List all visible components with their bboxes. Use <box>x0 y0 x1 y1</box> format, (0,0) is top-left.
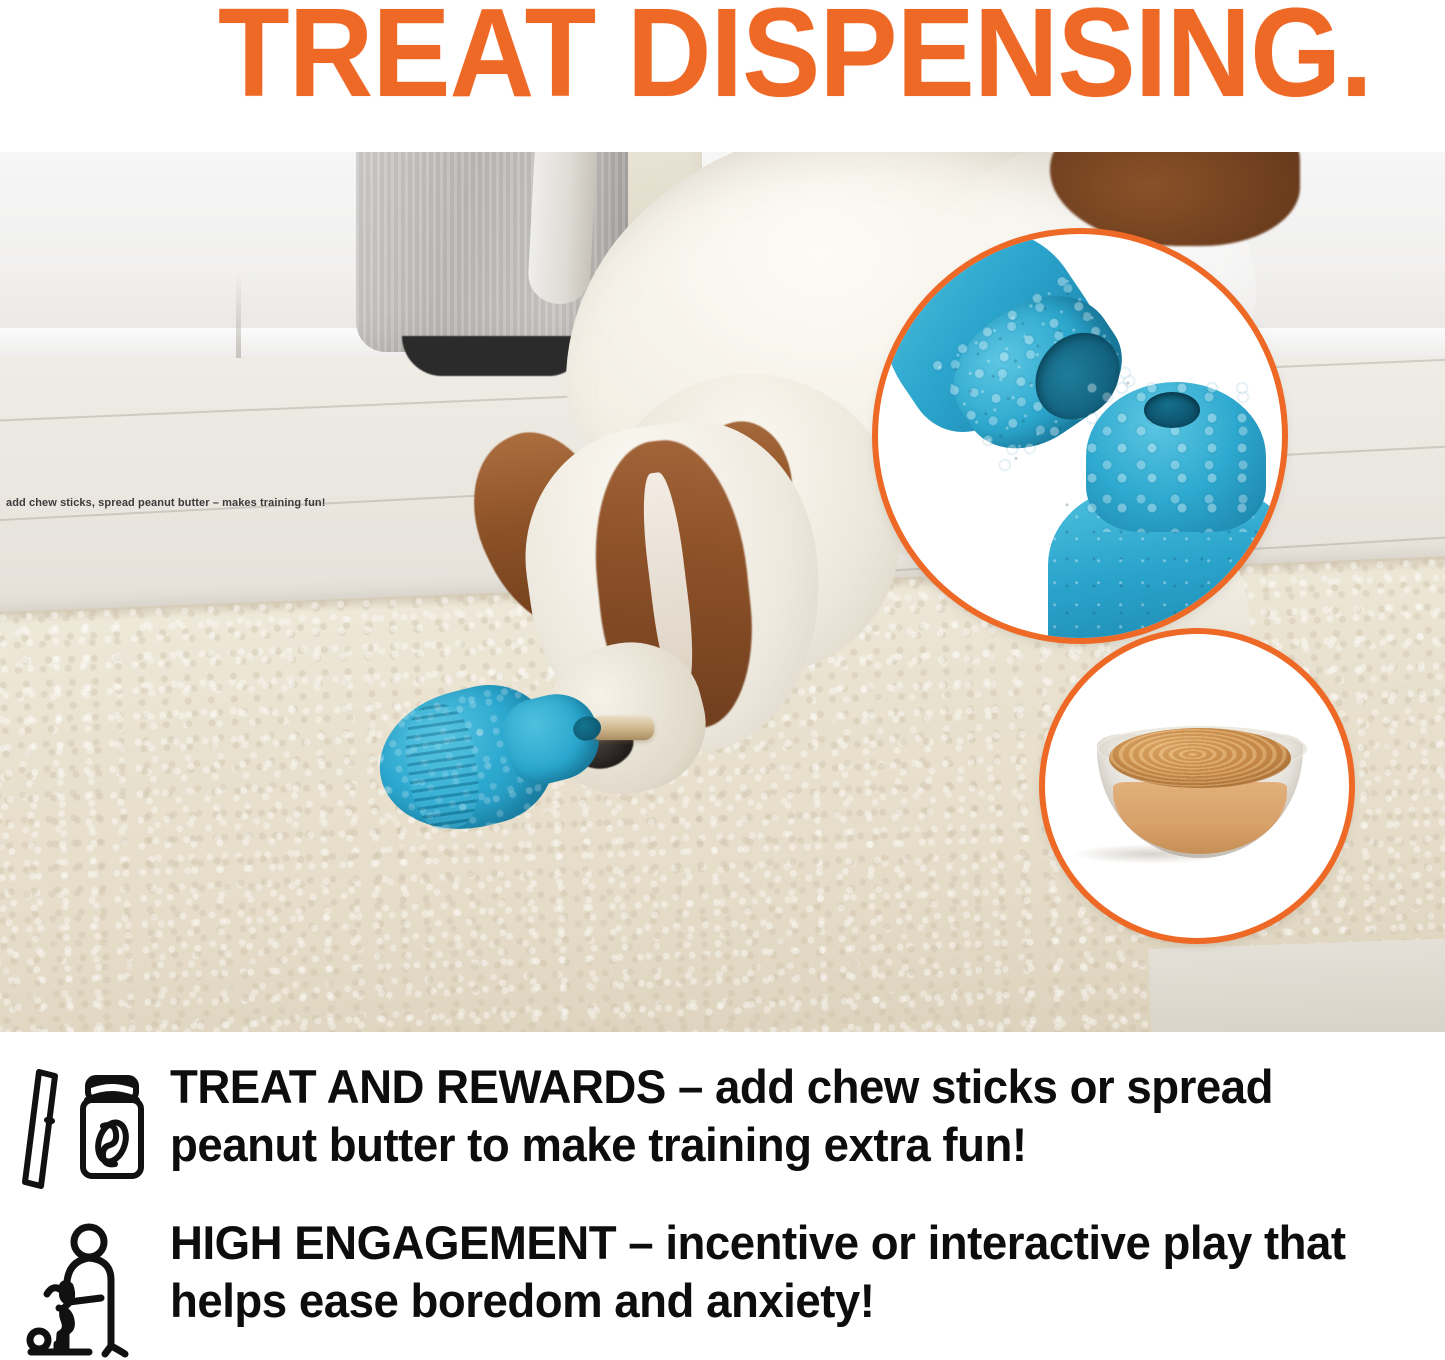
feature-lead: HIGH ENGAGEMENT <box>170 1216 616 1269</box>
peanut-butter-bowl <box>1097 708 1303 860</box>
person-with-dog-icon <box>0 1214 170 1360</box>
wall-seam <box>236 272 241 372</box>
chew-stick-and-peanut-butter-jar-icon <box>0 1058 170 1196</box>
feature-list: TREAT AND REWARDS – add chew sticks or s… <box>0 1032 1445 1354</box>
toy-treat-hole <box>1144 392 1200 428</box>
hero-photo: add chew sticks, spread peanut butter – … <box>0 152 1445 1032</box>
peanut-butter-swirl <box>1109 728 1291 788</box>
inset-product-closeup <box>878 234 1282 638</box>
photo-caption: add chew sticks, spread peanut butter – … <box>6 497 325 509</box>
inset-peanut-butter <box>1045 634 1349 938</box>
feature-lead: TREAT AND REWARDS <box>170 1060 666 1113</box>
headline-band: TREAT DISPENSING. <box>0 0 1445 152</box>
toy-closeup-lower <box>1066 382 1282 632</box>
page-title: TREAT DISPENSING. <box>218 0 1372 112</box>
peanut-butter-surface <box>1109 728 1291 788</box>
peanut-butter-in-bowl <box>1113 782 1287 854</box>
floor-beyond-rug <box>1148 935 1445 1032</box>
feature-text: TREAT AND REWARDS – add chew sticks or s… <box>170 1058 1407 1174</box>
feature-row: HIGH ENGAGEMENT – incentive or interacti… <box>0 1214 1445 1360</box>
feature-text: HIGH ENGAGEMENT – incentive or interacti… <box>170 1214 1407 1330</box>
feature-row: TREAT AND REWARDS – add chew sticks or s… <box>0 1058 1445 1196</box>
